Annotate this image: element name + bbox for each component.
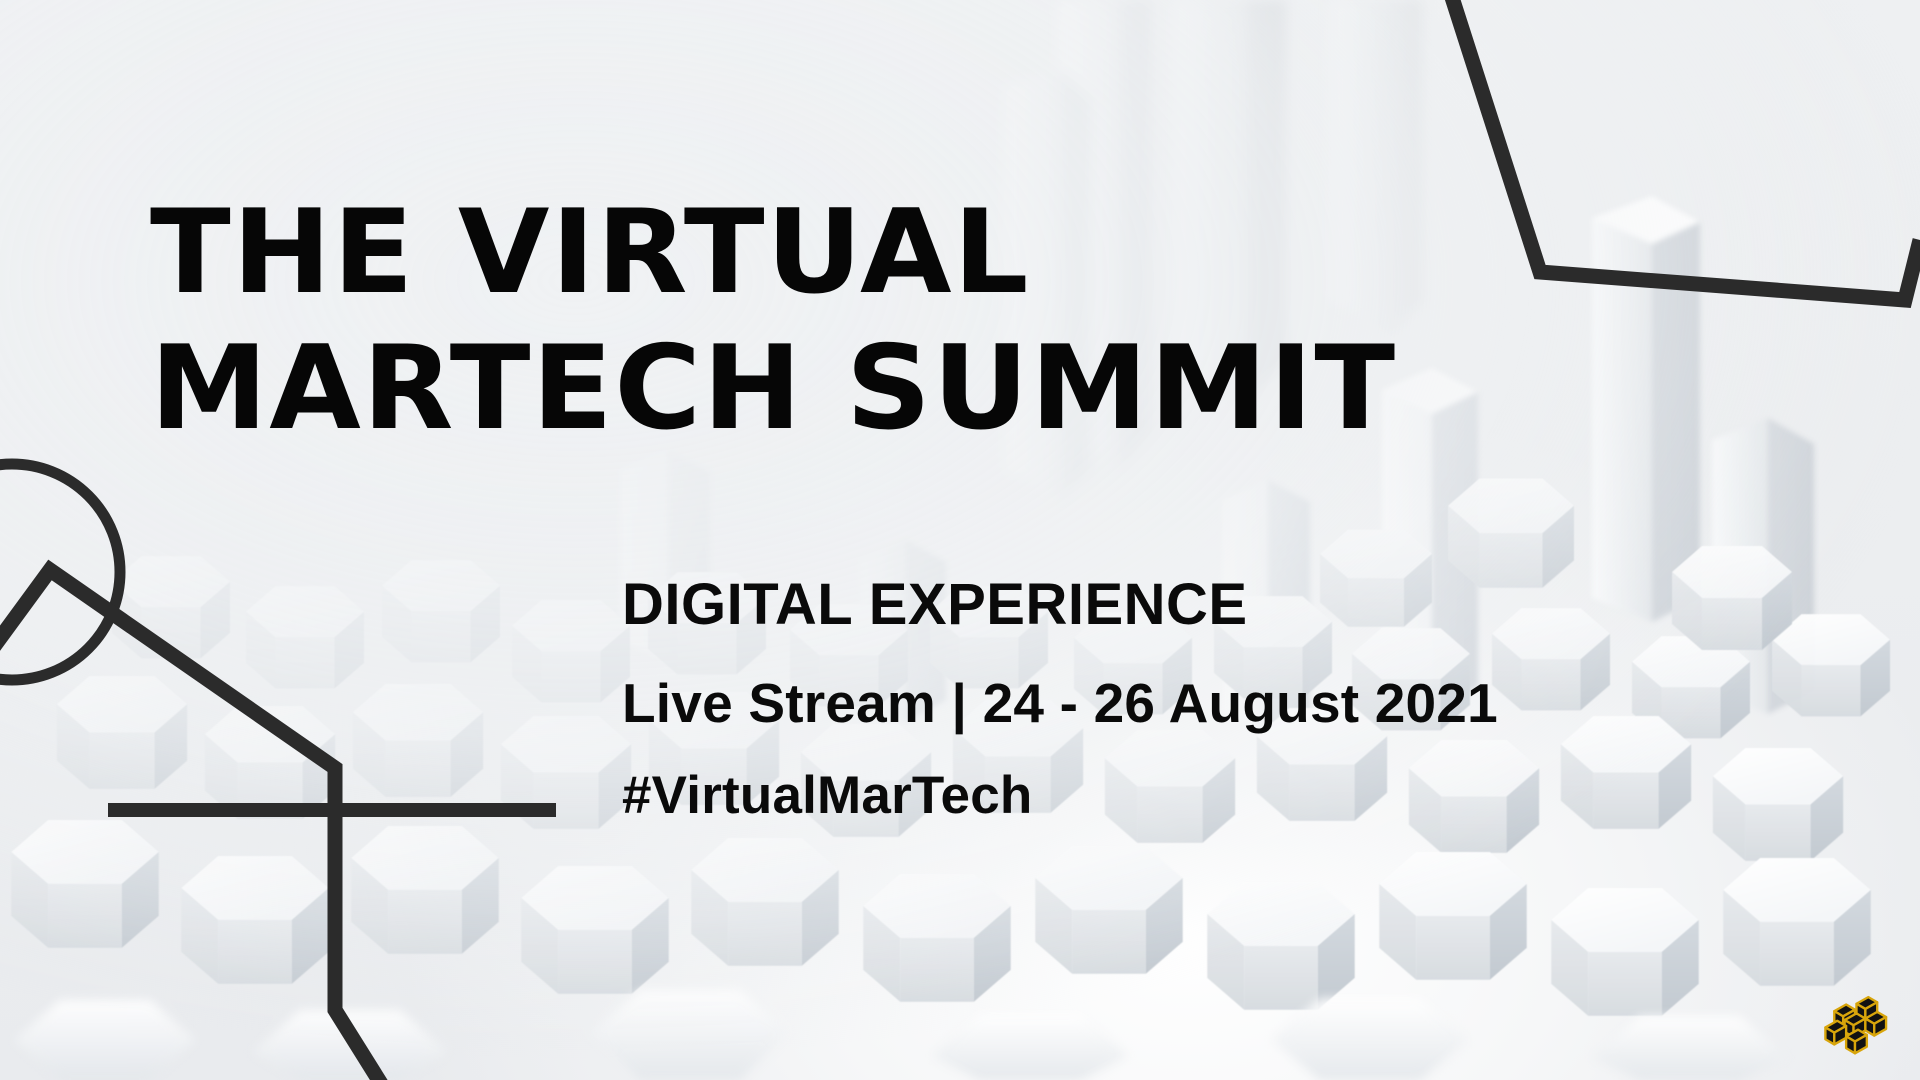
isometric-cube-cluster-logo (1818, 986, 1892, 1060)
title-line-2: MARTECH SUMMIT (150, 332, 1476, 446)
slide-canvas: THE VIRTUAL MARTECH SUMMIT DIGITAL EXPER… (0, 0, 1920, 1080)
event-schedule-label: Live Stream | 24 - 26 August 2021 (622, 676, 1498, 731)
event-hashtag: #VirtualMarTech (622, 769, 1498, 822)
logo-icon (1818, 986, 1892, 1060)
background-3d-scene (0, 0, 1920, 1080)
background-light-wash (0, 0, 1920, 1080)
title-line-1: THE VIRTUAL (150, 196, 1476, 310)
event-details: DIGITAL EXPERIENCE Live Stream | 24 - 26… (622, 576, 1498, 822)
event-title: THE VIRTUAL MARTECH SUMMIT (150, 196, 1450, 445)
event-format-label: DIGITAL EXPERIENCE (622, 576, 1498, 634)
